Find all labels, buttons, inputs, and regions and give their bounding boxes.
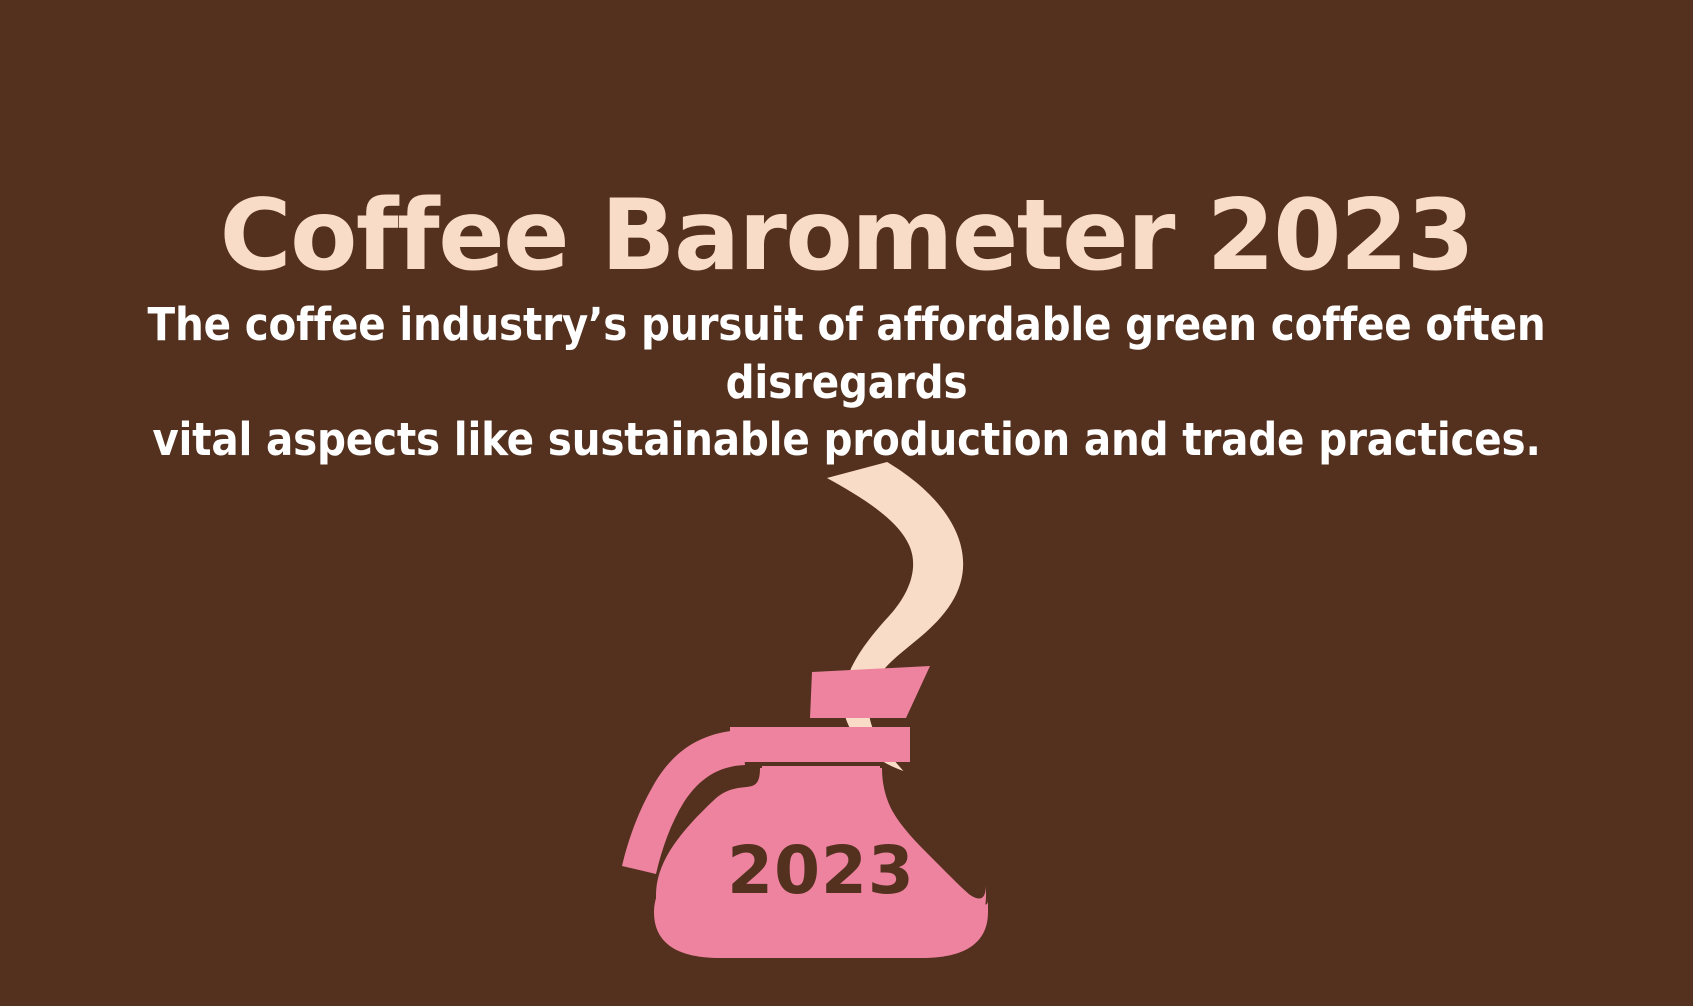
pot-year-label: 2023 bbox=[727, 832, 915, 909]
steam-icon bbox=[827, 462, 963, 771]
poster-canvas: Coffee Barometer 2023 The coffee industr… bbox=[0, 0, 1693, 1006]
pot-neck-band bbox=[730, 727, 910, 762]
coffee-pot-illustration: 2023 bbox=[0, 0, 1693, 1006]
page-subtitle-line-1: The coffee industry’s pursuit of afforda… bbox=[37, 296, 1657, 411]
pot-handle bbox=[622, 730, 745, 874]
page-subtitle-line-2: vital aspects like sustainable productio… bbox=[37, 411, 1657, 469]
page-title: Coffee Barometer 2023 bbox=[0, 184, 1693, 290]
pot-body-fill bbox=[654, 766, 988, 958]
pot-body bbox=[656, 768, 986, 955]
pot-lid bbox=[810, 666, 930, 718]
page-subtitle: The coffee industry’s pursuit of afforda… bbox=[37, 296, 1657, 469]
